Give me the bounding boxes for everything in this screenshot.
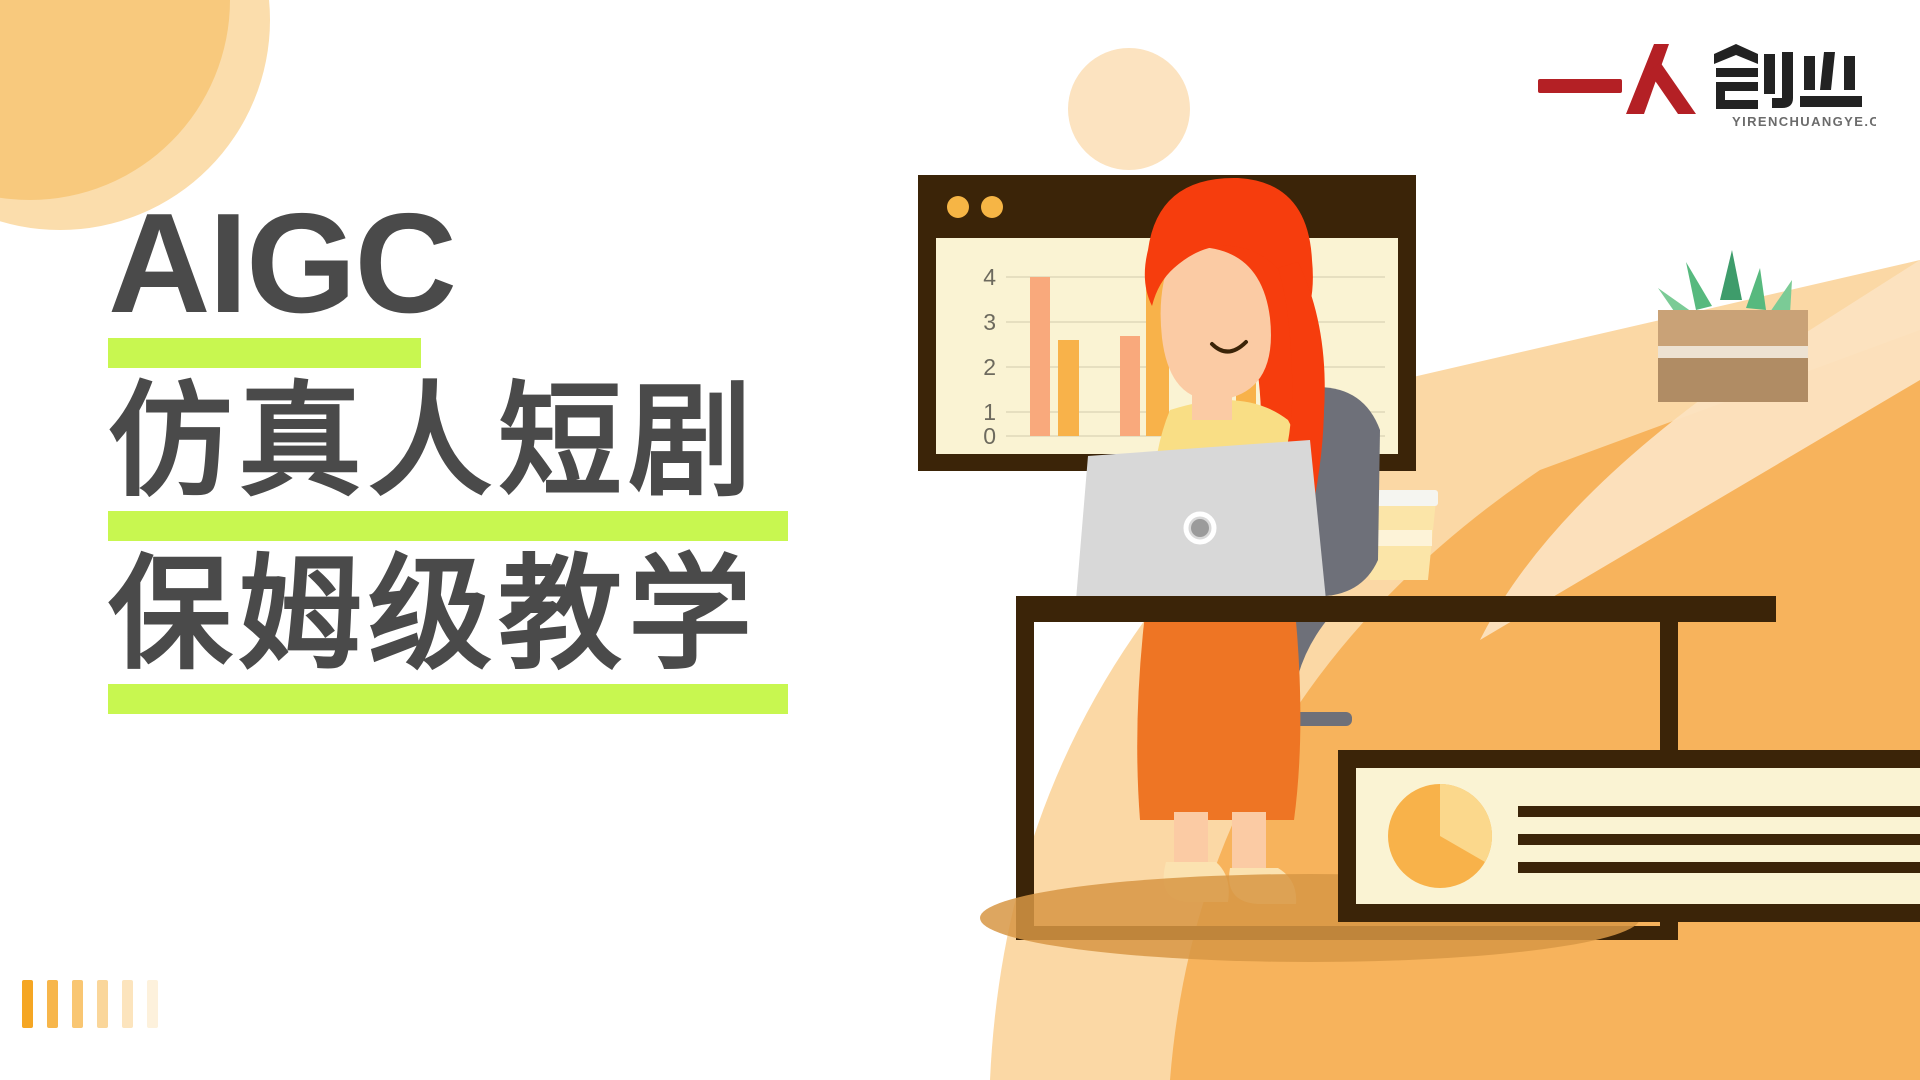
chart-bar bbox=[1058, 340, 1079, 436]
pie-card bbox=[1338, 750, 1920, 922]
chart-ytick: 2 bbox=[983, 354, 996, 380]
poster-canvas: YIRENCHUANGYE.COM AIGC 仿真人短剧 保姆级教学 bbox=[0, 0, 1920, 1080]
headline-underline-2 bbox=[108, 511, 788, 541]
decor-bar-group bbox=[22, 980, 158, 1028]
browser-dot bbox=[947, 196, 969, 218]
plant-leaf bbox=[1746, 268, 1766, 310]
pie-card-line bbox=[1518, 834, 1920, 845]
pie-card-line bbox=[1518, 806, 1920, 817]
illustration-svg: 4 3 2 1 0 bbox=[840, 0, 1920, 1080]
headline-underline-3 bbox=[108, 684, 788, 714]
headline-block: AIGC 仿真人短剧 保姆级教学 bbox=[108, 196, 868, 714]
plant-pot-stripe bbox=[1658, 346, 1808, 358]
laptop-logo-dot bbox=[1191, 519, 1209, 537]
browser-dot bbox=[981, 196, 1003, 218]
headline-line-1: AIGC bbox=[108, 196, 868, 332]
chart-ytick: 1 bbox=[983, 399, 996, 425]
chart-ytick: 3 bbox=[983, 309, 996, 335]
desk-leg-left bbox=[1016, 596, 1034, 940]
chart-ytick: 0 bbox=[983, 423, 996, 449]
pie-card-line bbox=[1518, 862, 1920, 873]
plant-pot-body bbox=[1658, 358, 1808, 402]
decor-bar bbox=[97, 980, 108, 1028]
chart-ytick: 4 bbox=[983, 264, 996, 290]
plant-leaf bbox=[1720, 250, 1742, 300]
decor-bar bbox=[122, 980, 133, 1028]
headline-line-3: 保姆级教学 bbox=[108, 551, 868, 680]
decor-bar bbox=[47, 980, 58, 1028]
plant bbox=[1658, 250, 1808, 402]
plant-leaf bbox=[1686, 262, 1712, 310]
decor-bar bbox=[72, 980, 83, 1028]
plant-pot-top bbox=[1658, 310, 1808, 346]
laptop bbox=[1076, 440, 1326, 600]
chart-bar bbox=[1030, 277, 1050, 436]
decor-bar bbox=[22, 980, 33, 1028]
decor-bar bbox=[147, 980, 158, 1028]
illustration: 4 3 2 1 0 bbox=[840, 0, 1920, 1080]
headline-line-2: 仿真人短剧 bbox=[108, 378, 868, 507]
chart-bar bbox=[1120, 336, 1140, 436]
